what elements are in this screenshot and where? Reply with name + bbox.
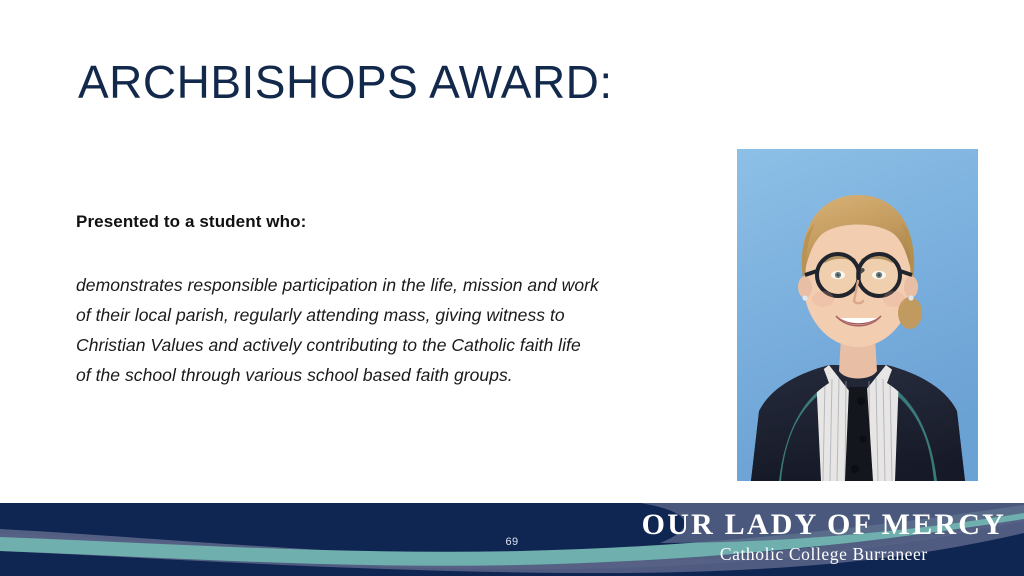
logo-secondary-text: Catholic College Burraneer <box>642 543 1006 565</box>
criteria-paragraph: demonstrates responsible participation i… <box>76 270 696 390</box>
student-portrait-photo <box>737 149 978 481</box>
criteria-line-3: Christian Values and actively contributi… <box>76 330 696 360</box>
school-logo: OUR LADY OF MERCY Catholic College Burra… <box>642 508 1006 565</box>
page-title: ARCHBISHOPS AWARD: <box>78 54 613 110</box>
body-text-block: Presented to a student who: demonstrates… <box>76 210 696 390</box>
logo-primary-text: OUR LADY OF MERCY <box>642 508 1006 542</box>
slide-canvas: ARCHBISHOPS AWARD: Presented to a studen… <box>0 0 1024 576</box>
criteria-line-1: demonstrates responsible participation i… <box>76 270 696 300</box>
criteria-line-4: of the school through various school bas… <box>76 360 696 390</box>
criteria-line-2: of their local parish, regularly attendi… <box>76 300 696 330</box>
lead-line: Presented to a student who: <box>76 210 696 234</box>
portrait-illustration <box>737 149 978 481</box>
